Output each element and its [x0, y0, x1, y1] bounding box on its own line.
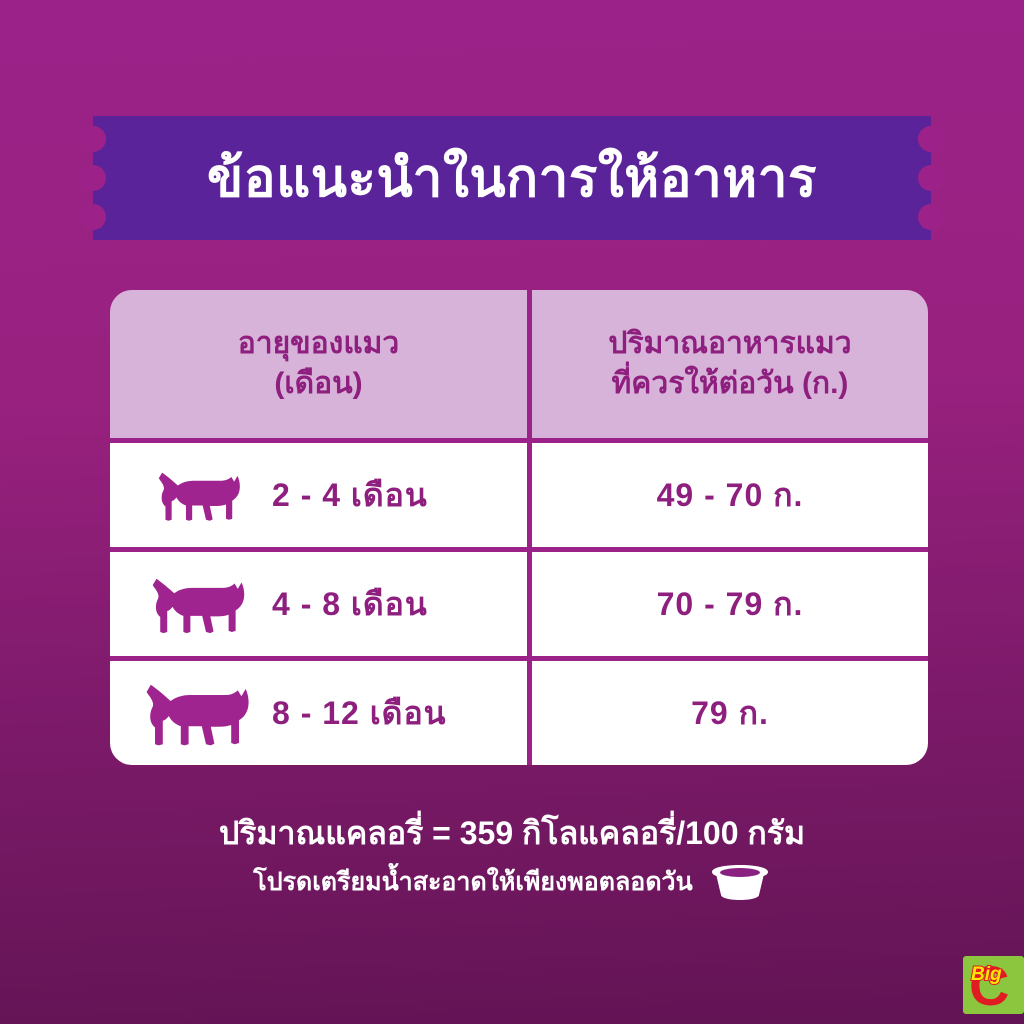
water-note-text: โปรดเตรียมน้ำสะอาดให้เพียงพอตลอดวัน — [253, 862, 692, 902]
feeding-guide-table: อายุของแมว (เดือน) ปริมาณอาหารแมว ที่ควร… — [110, 290, 928, 765]
cell-amount: 79 ก. — [532, 661, 928, 765]
cat-silhouette-icon — [140, 569, 272, 639]
header-label-age: อายุของแมว (เดือน) — [238, 324, 400, 403]
pet-bowl-icon — [709, 864, 771, 900]
big-c-word: Big — [971, 965, 1002, 984]
table-row: 2 - 4 เดือน 49 - 70 ก. — [110, 443, 928, 547]
header-label-amount: ปริมาณอาหารแมว ที่ควรให้ต่อวัน (ก.) — [608, 324, 851, 403]
amount-value: 70 - 79 ก. — [657, 579, 804, 630]
table-row: 4 - 8 เดือน 70 - 79 ก. — [110, 552, 928, 656]
cell-age: 2 - 4 เดือน — [110, 443, 527, 547]
cell-age: 8 - 12 เดือน — [110, 661, 527, 765]
amount-value: 79 ก. — [691, 688, 769, 739]
age-value: 8 - 12 เดือน — [272, 688, 447, 739]
big-c-logo[interactable]: C Big — [963, 956, 1024, 1014]
cell-amount: 70 - 79 ก. — [532, 552, 928, 656]
water-note: โปรดเตรียมน้ำสะอาดให้เพียงพอตลอดวัน — [0, 862, 1024, 902]
cell-amount: 49 - 70 ก. — [532, 443, 928, 547]
amount-value: 49 - 70 ก. — [657, 470, 804, 521]
title-banner: ข้อแนะนำในการให้อาหาร — [93, 116, 931, 240]
cat-silhouette-icon — [140, 464, 272, 526]
cell-age: 4 - 8 เดือน — [110, 552, 527, 656]
page-title: ข้อแนะนำในการให้อาหาร — [93, 116, 931, 240]
header-cell-amount: ปริมาณอาหารแมว ที่ควรให้ต่อวัน (ก.) — [532, 290, 928, 438]
age-value: 2 - 4 เดือน — [272, 470, 428, 521]
age-value: 4 - 8 เดือน — [272, 579, 428, 630]
table-row: 8 - 12 เดือน 79 ก. — [110, 661, 928, 765]
header-cell-age: อายุของแมว (เดือน) — [110, 290, 527, 438]
calorie-note: ปริมาณแคลอรี่ = 359 กิโลแคลอรี่/100 กรัม — [0, 808, 1024, 859]
table-header-row: อายุของแมว (เดือน) ปริมาณอาหารแมว ที่ควร… — [110, 290, 928, 438]
cat-silhouette-icon — [140, 674, 272, 752]
